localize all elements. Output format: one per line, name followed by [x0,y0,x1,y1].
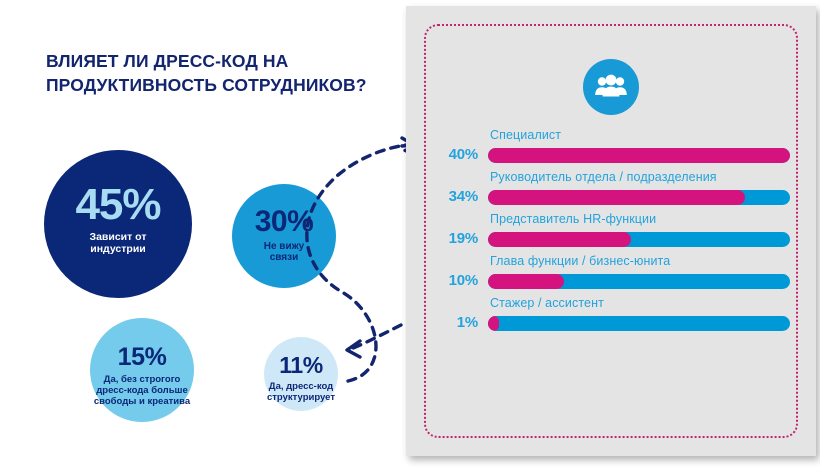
bar-value-1: 34% [432,188,478,205]
page-title: ВЛИЯЕТ ЛИ ДРЕСС-КОД НА ПРОДУКТИВНОСТЬ СО… [46,50,386,97]
bar-value-0: 40% [432,146,478,163]
bubble-30-caption: Не вижу связи [179,241,389,264]
bar-row: Глава функции / бизнес-юнита 10% [432,254,790,296]
bar-track-4 [488,316,790,331]
bar-label-4: Стажер / ассистент [490,296,604,310]
people-group-icon [594,74,628,100]
bar-value-2: 19% [432,230,478,247]
bubble-30-content: 30% Не вижу связи [179,208,389,264]
bar-fill-3 [488,274,564,289]
bubble-11-percent: 11% Да, дресс-код структурирует [264,337,338,411]
bubble-30-value: 30% [179,208,389,237]
infographic-root: ВЛИЯЕТ ЛИ ДРЕСС-КОД НА ПРОДУКТИВНОСТЬ СО… [0,0,820,467]
bar-row: Специалист 40% [432,128,790,170]
bubble-11-value: 11% [196,355,406,377]
bar-value-3: 10% [432,272,478,289]
bar-label-3: Глава функции / бизнес-юнита [490,254,670,268]
chart-panel: Специалист 40% Руководитель отдела / под… [406,6,816,456]
bar-fill-0 [488,148,790,163]
bubble-11-caption: Да, дресс-код структурирует [196,382,406,404]
bar-track-0 [488,148,790,163]
bar-label-1: Руководитель отдела / подразделения [490,170,717,184]
bubble-11-content: 11% Да, дресс-код структурирует [196,355,406,404]
bubble-15-percent: 15% Да, без строгого дресс-кода больше с… [90,318,194,422]
bar-fill-2 [488,232,631,247]
bar-label-0: Специалист [490,128,561,142]
bar-value-4: 1% [432,314,478,331]
bar-fill-1 [488,190,745,205]
people-group-badge [583,59,639,115]
bar-track-2 [488,232,790,247]
bubble-45-percent: 45% Зависит от индустрии [44,150,192,298]
bar-row: Представитель HR-функции 19% [432,212,790,254]
bar-label-2: Представитель HR-функции [490,212,656,226]
bar-track-1 [488,190,790,205]
bar-row: Стажер / ассистент 1% [432,296,790,338]
bar-track-3 [488,274,790,289]
bubble-30-percent: 30% Не вижу связи [232,184,336,288]
bar-chart: Специалист 40% Руководитель отдела / под… [432,128,790,338]
bar-row: Руководитель отдела / подразделения 34% [432,170,790,212]
bar-fill-4 [488,316,499,331]
left-panel: ВЛИЯЕТ ЛИ ДРЕСС-КОД НА ПРОДУКТИВНОСТЬ СО… [0,0,406,467]
